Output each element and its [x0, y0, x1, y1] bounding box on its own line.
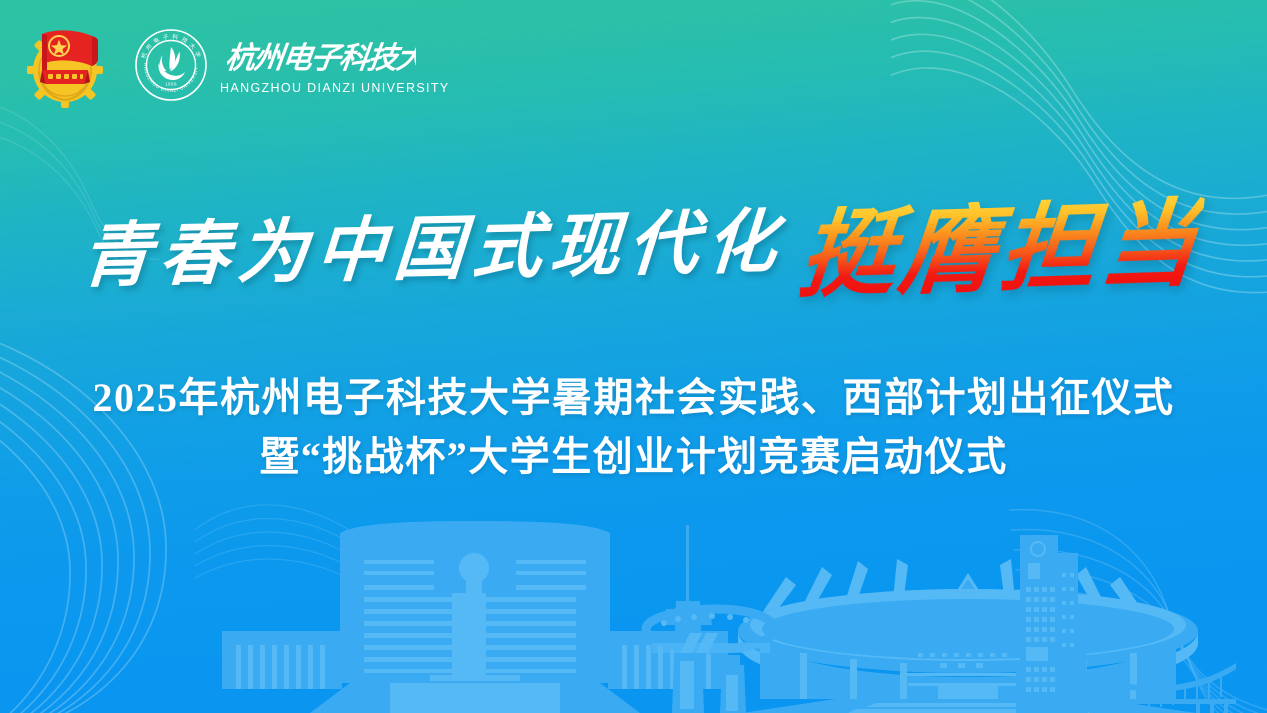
subtitle-line-2: 暨“挑战杯”大学生创业计划竞赛启动仪式 — [0, 427, 1267, 486]
page-title: 青春为中国式现代化 挺膺担当 — [0, 186, 1267, 311]
decorative-wave-lines-skyline — [195, 500, 515, 630]
tall-tower-far-right — [1020, 535, 1078, 713]
hangzhou-city-skyline-silhouette — [0, 513, 1267, 713]
communist-youth-league-emblem-icon — [22, 22, 108, 108]
hangzhou-dianzi-university-seal-icon: 杭 州 电 子 科 技 大 学 HANGZHOU DIANZI UNIVERSI… — [134, 28, 208, 102]
mid-rise-block-right — [1016, 649, 1088, 713]
university-name-block: 杭州电子科技大学 HANGZHOU DIANZI UNIVERSITY — [220, 36, 450, 95]
hangzhou-citizen-center-twin-tower — [646, 525, 774, 713]
university-name-cn: 杭州电子科技大学 — [220, 36, 416, 78]
event-subtitle: 2025年杭州电子科技大学暑期社会实践、西部计划出征仪式 暨“挑战杯”大学生创业… — [0, 368, 1267, 486]
svg-text:杭州电子科技大学: 杭州电子科技大学 — [223, 41, 416, 76]
suspension-bridge — [1086, 663, 1236, 713]
hangzhou-olympic-sports-center-stadium — [738, 559, 1198, 713]
university-logo-lockup: 杭 州 电 子 科 技 大 学 HANGZHOU DIANZI UNIVERSI… — [134, 28, 450, 102]
title-white-part: 青春为中国式现代化 — [65, 206, 787, 291]
subtitle-line-1: 2025年杭州电子科技大学暑期社会实践、西部计划出征仪式 — [0, 368, 1267, 427]
university-name-en: HANGZHOU DIANZI UNIVERSITY — [220, 81, 450, 95]
decorative-wave-lines-bottom-right — [1009, 505, 1267, 713]
svg-text:1956: 1956 — [165, 82, 177, 87]
mid-rise-block — [1018, 643, 1090, 713]
header-logo-bar: 杭 州 电 子 科 技 大 学 HANGZHOU DIANZI UNIVERSI… — [22, 22, 450, 108]
title-red-part: 挺膺担当 — [794, 194, 1204, 303]
event-poster: 杭 州 电 子 科 技 大 学 HANGZHOU DIANZI UNIVERSI… — [0, 0, 1267, 713]
office-tower — [222, 521, 728, 713]
